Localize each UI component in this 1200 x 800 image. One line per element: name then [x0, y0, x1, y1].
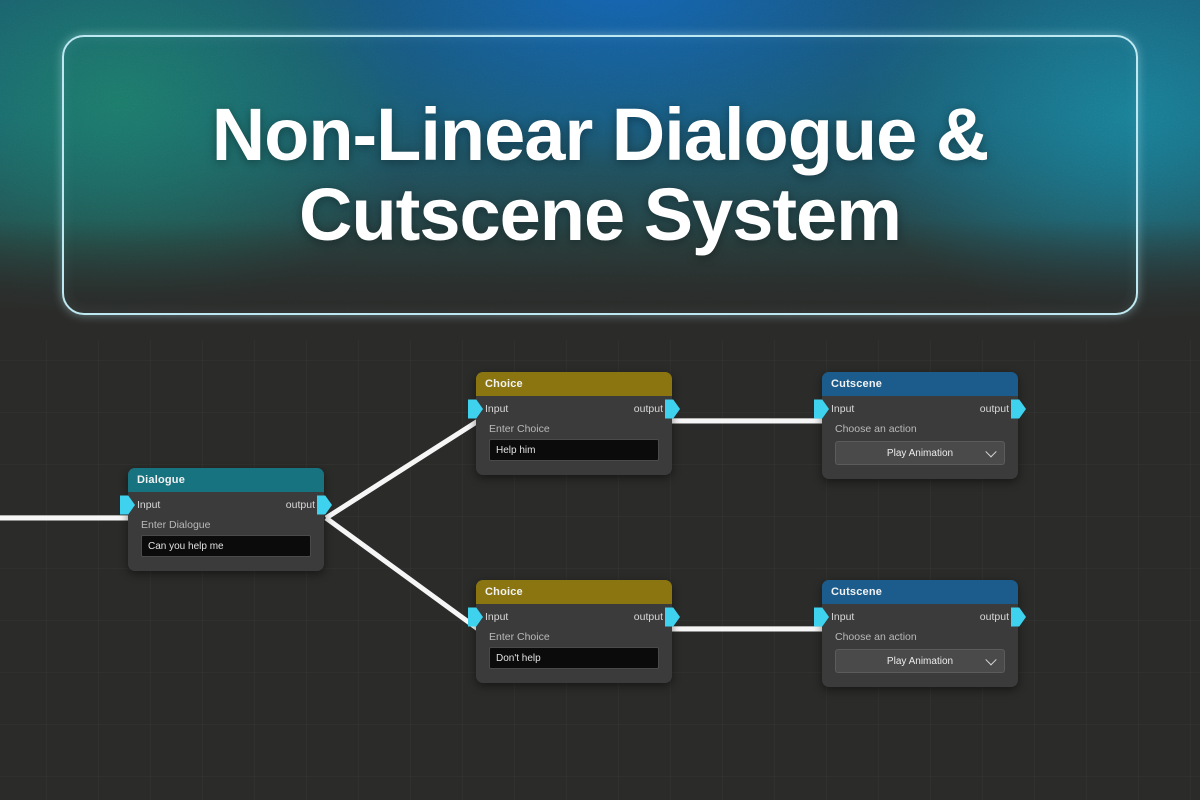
canvas: Non-Linear Dialogue & Cutscene System Di…: [0, 0, 1200, 800]
node-body: Input output Enter Choice Help him: [476, 396, 672, 475]
node-choice-2[interactable]: Choice Input output Enter Choice Don't h…: [476, 580, 672, 683]
node-body: Input output Choose an action Play Anima…: [822, 604, 1018, 687]
node-title: Dialogue: [137, 474, 185, 486]
chevron-down-icon: [985, 654, 996, 665]
input-port-icon[interactable]: [468, 608, 483, 627]
input-port-icon[interactable]: [814, 608, 829, 627]
field-label: Choose an action: [822, 422, 1018, 439]
dialogue-text-value: Can you help me: [148, 541, 224, 552]
output-port-label: output: [634, 611, 663, 623]
node-header-cutscene: Cutscene: [822, 372, 1018, 396]
node-title: Choice: [485, 586, 523, 598]
input-port-label: Input: [137, 499, 160, 511]
node-header-cutscene: Cutscene: [822, 580, 1018, 604]
chevron-down-icon: [985, 446, 996, 457]
output-port-label: output: [980, 403, 1009, 415]
node-body: Input output Enter Dialogue Can you help…: [128, 492, 324, 571]
port-row: Input output: [822, 396, 1018, 422]
input-port-label: Input: [831, 611, 854, 623]
action-select[interactable]: Play Animation: [835, 441, 1005, 465]
node-cutscene-1[interactable]: Cutscene Input output Choose an action P…: [822, 372, 1018, 479]
port-row: Input output: [128, 492, 324, 518]
port-row: Input output: [822, 604, 1018, 630]
action-select[interactable]: Play Animation: [835, 649, 1005, 673]
field-label: Enter Dialogue: [128, 518, 324, 535]
node-header-choice: Choice: [476, 372, 672, 396]
input-port-icon[interactable]: [814, 400, 829, 419]
port-row: Input output: [476, 396, 672, 422]
dialogue-text-input[interactable]: Can you help me: [141, 535, 311, 557]
choice-text-value: Don't help: [496, 653, 541, 664]
action-select-value: Play Animation: [887, 656, 953, 667]
node-body: Input output Enter Choice Don't help: [476, 604, 672, 683]
output-port-label: output: [286, 499, 315, 511]
choice-text-input[interactable]: Help him: [489, 439, 659, 461]
title-frame: Non-Linear Dialogue & Cutscene System: [62, 35, 1138, 315]
port-row: Input output: [476, 604, 672, 630]
hero-banner: Non-Linear Dialogue & Cutscene System: [0, 0, 1200, 340]
field-label: Enter Choice: [476, 630, 672, 647]
input-port-label: Input: [485, 611, 508, 623]
node-title: Choice: [485, 378, 523, 390]
node-choice-1[interactable]: Choice Input output Enter Choice Help hi…: [476, 372, 672, 475]
choice-text-input[interactable]: Don't help: [489, 647, 659, 669]
input-port-icon[interactable]: [468, 400, 483, 419]
node-header-choice: Choice: [476, 580, 672, 604]
node-title: Cutscene: [831, 586, 882, 598]
output-port-label: output: [980, 611, 1009, 623]
input-port-icon[interactable]: [120, 496, 135, 515]
field-label: Enter Choice: [476, 422, 672, 439]
node-cutscene-2[interactable]: Cutscene Input output Choose an action P…: [822, 580, 1018, 687]
input-port-label: Input: [485, 403, 508, 415]
page-title-line-2: Cutscene System: [299, 178, 901, 252]
choice-text-value: Help him: [496, 445, 535, 456]
input-port-label: Input: [831, 403, 854, 415]
page-title-line-1: Non-Linear Dialogue &: [212, 98, 989, 172]
output-port-label: output: [634, 403, 663, 415]
node-header-dialogue: Dialogue: [128, 468, 324, 492]
node-title: Cutscene: [831, 378, 882, 390]
node-body: Input output Choose an action Play Anima…: [822, 396, 1018, 479]
field-label: Choose an action: [822, 630, 1018, 647]
action-select-value: Play Animation: [887, 448, 953, 459]
node-dialogue[interactable]: Dialogue Input output Enter Dialogue Can…: [128, 468, 324, 571]
